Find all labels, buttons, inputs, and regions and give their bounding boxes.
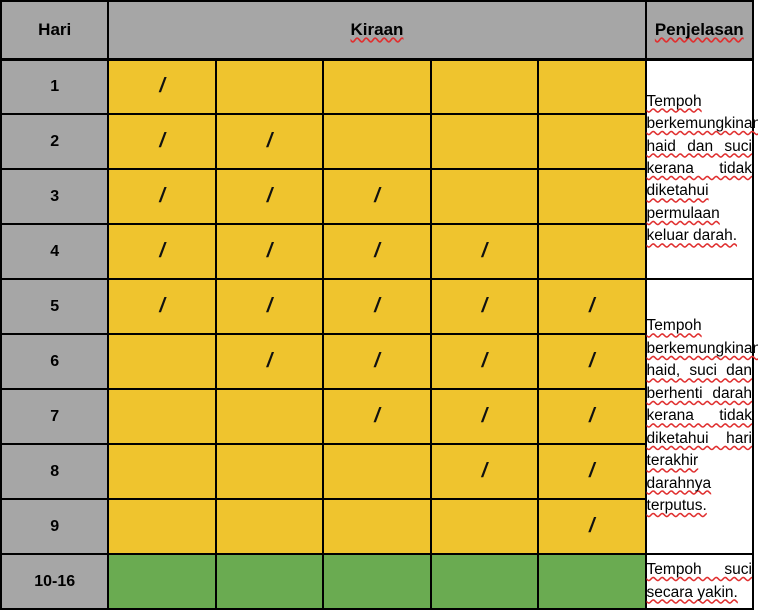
tally-cell-marked: / xyxy=(431,279,538,334)
table-row: 4//// xyxy=(1,224,753,279)
tally-cell xyxy=(323,499,430,554)
tally-cell-marked: / xyxy=(538,444,645,499)
day-cell: 5 xyxy=(1,279,108,334)
tally-cell xyxy=(108,499,215,554)
day-cell: 6 xyxy=(1,334,108,389)
tally-cell xyxy=(323,114,430,169)
column-header-kiraan: Kiraan xyxy=(108,1,645,59)
tally-cell xyxy=(431,114,538,169)
tally-cell-marked: / xyxy=(216,279,323,334)
day-cell: 9 xyxy=(1,499,108,554)
tally-cell xyxy=(323,554,430,609)
day-cell: 1 xyxy=(1,59,108,114)
tally-cell xyxy=(323,444,430,499)
table-header: Hari Kiraan Penjelasan xyxy=(1,1,753,59)
tally-cell xyxy=(216,444,323,499)
tally-cell xyxy=(538,59,645,114)
tally-cell-marked: / xyxy=(538,279,645,334)
tally-cell-marked: / xyxy=(216,114,323,169)
table-row: 5/////Tempoh berkemungkinan haid, suci d… xyxy=(1,279,753,334)
table-row: 3/// xyxy=(1,169,753,224)
tally-cell-marked: / xyxy=(323,279,430,334)
tally-cell xyxy=(538,114,645,169)
table-row: 8// xyxy=(1,444,753,499)
column-header-hari: Hari xyxy=(1,1,108,59)
day-cell: 7 xyxy=(1,389,108,444)
table-row: 7/// xyxy=(1,389,753,444)
tally-cell xyxy=(538,224,645,279)
explanation-text: Tempoh suci secara yakin. xyxy=(647,561,752,600)
tally-cell-marked: / xyxy=(538,499,645,554)
tally-cell-marked: / xyxy=(323,169,430,224)
header-label-hari: Hari xyxy=(38,20,71,39)
explanation-cell: Tempoh suci secara yakin. xyxy=(646,554,753,609)
tally-cell-marked: / xyxy=(108,224,215,279)
explanation-text: Tempoh berkemungkinan haid dan suci kera… xyxy=(647,93,758,245)
table-row: 2// xyxy=(1,114,753,169)
table-container: Hari Kiraan Penjelasan 1/Tempoh berkemun… xyxy=(0,0,758,615)
explanation-cell: Tempoh berkemungkinan haid dan suci kera… xyxy=(646,59,753,279)
tally-cell-marked: / xyxy=(108,59,215,114)
table-row: 1/Tempoh berkemungkinan haid dan suci ke… xyxy=(1,59,753,114)
tally-cell-marked: / xyxy=(216,169,323,224)
table-row: 10-16Tempoh suci secara yakin. xyxy=(1,554,753,609)
tally-cell-marked: / xyxy=(216,224,323,279)
explanation-text: Tempoh berkemungkinan haid, suci dan ber… xyxy=(647,317,758,514)
tally-cell-marked: / xyxy=(431,389,538,444)
tally-cell-marked: / xyxy=(431,444,538,499)
tally-cell-marked: / xyxy=(216,334,323,389)
tally-cell-marked: / xyxy=(323,224,430,279)
tally-cell-marked: / xyxy=(431,224,538,279)
tally-cell-marked: / xyxy=(108,279,215,334)
tally-cell xyxy=(216,554,323,609)
tally-cell-marked: / xyxy=(108,114,215,169)
haid-kiraan-table: Hari Kiraan Penjelasan 1/Tempoh berkemun… xyxy=(0,0,754,610)
column-header-penjelasan: Penjelasan xyxy=(646,1,753,59)
tally-cell xyxy=(108,334,215,389)
tally-cell xyxy=(538,554,645,609)
day-cell: 4 xyxy=(1,224,108,279)
tally-cell xyxy=(323,59,430,114)
tally-cell-marked: / xyxy=(431,334,538,389)
tally-cell xyxy=(431,169,538,224)
tally-cell xyxy=(538,169,645,224)
tally-cell xyxy=(108,389,215,444)
day-cell: 8 xyxy=(1,444,108,499)
header-label-kiraan: Kiraan xyxy=(351,20,404,39)
tally-cell xyxy=(431,499,538,554)
tally-cell xyxy=(216,389,323,444)
tally-cell xyxy=(108,554,215,609)
table-row: 9/ xyxy=(1,499,753,554)
tally-cell-marked: / xyxy=(108,169,215,224)
tally-cell-marked: / xyxy=(323,334,430,389)
tally-cell xyxy=(108,444,215,499)
tally-cell-marked: / xyxy=(538,334,645,389)
table-row: 6//// xyxy=(1,334,753,389)
tally-cell xyxy=(216,499,323,554)
day-cell: 3 xyxy=(1,169,108,224)
header-row: Hari Kiraan Penjelasan xyxy=(1,1,753,59)
day-cell: 2 xyxy=(1,114,108,169)
header-label-penjelasan: Penjelasan xyxy=(655,20,744,39)
tally-cell xyxy=(216,59,323,114)
table-body: 1/Tempoh berkemungkinan haid dan suci ke… xyxy=(1,59,753,609)
tally-cell xyxy=(431,554,538,609)
tally-cell-marked: / xyxy=(538,389,645,444)
day-cell: 10-16 xyxy=(1,554,108,609)
tally-cell xyxy=(431,59,538,114)
tally-cell-marked: / xyxy=(323,389,430,444)
explanation-cell: Tempoh berkemungkinan haid, suci dan ber… xyxy=(646,279,753,554)
